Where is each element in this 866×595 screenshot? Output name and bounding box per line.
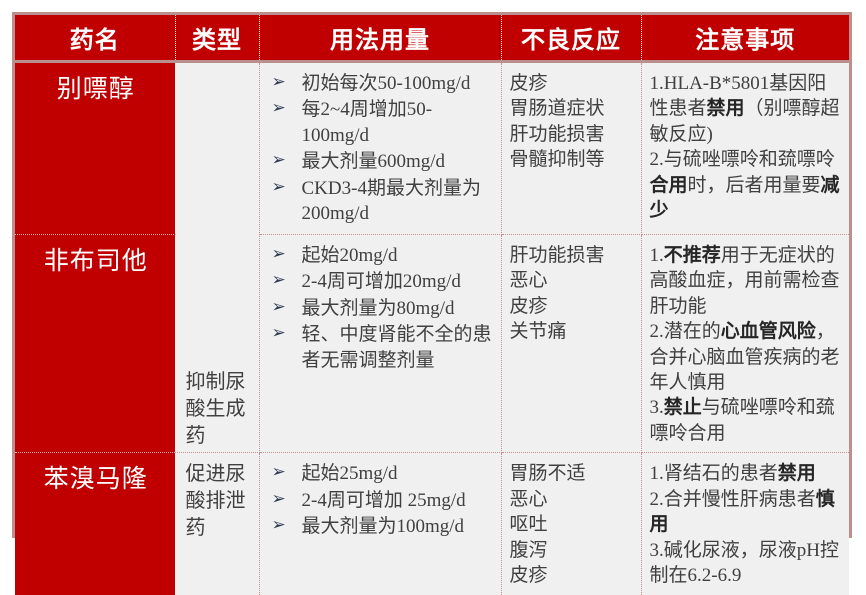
adverse-item: 肝功能损害	[510, 243, 635, 268]
dosage-item: ➢每2~4周增加50-100mg/d	[268, 97, 495, 148]
precaution-item: 1.肾结石的患者禁用	[650, 461, 844, 486]
cell-dosage: ➢起始25mg/d➢2-4周可增加 25mg/d➢最大剂量为100mg/d	[259, 453, 501, 595]
adverse-item: 皮疹	[510, 71, 635, 96]
arrow-bullet-icon: ➢	[272, 70, 286, 95]
dosage-item-text: 轻、中度肾能不全的患者无需调整剂量	[302, 324, 492, 370]
dosage-item: ➢2-4周可增加20mg/d	[268, 269, 495, 294]
cell-drug-name: 别嘌醇	[15, 62, 175, 235]
precaution-text: 3.	[650, 397, 664, 418]
cell-drug-type: 抑制尿酸生成药	[175, 62, 259, 453]
dosage-item: ➢起始25mg/d	[268, 461, 495, 486]
adverse-item: 骨髓抑制等	[510, 147, 635, 172]
dosage-item-text: 最大剂量600mg/d	[302, 151, 446, 172]
adverse-item: 腹泻	[510, 538, 635, 563]
precaution-text: 1.	[650, 245, 664, 266]
precaution-text: 2.潜在的	[650, 321, 721, 342]
column-header-drug-type: 类型	[175, 15, 259, 62]
precaution-item: 2.潜在的心血管风险，合并心脑血管疾病的老年人慎用	[650, 319, 844, 395]
adverse-list: 肝功能损害恶心皮疹关节痛	[510, 243, 635, 345]
column-header-drug-name: 药名	[15, 15, 175, 62]
precaution-text: 2.与硫唑嘌呤和巯嘌呤	[650, 149, 835, 170]
cell-precautions: 1.肾结石的患者禁用2.合并慢性肝病患者慎用3.碱化尿液，尿液pH控制在6.2-…	[641, 453, 849, 595]
drug-type-text: 抑制尿酸生成药	[186, 371, 246, 447]
adverse-item: 呕吐	[510, 512, 635, 537]
arrow-bullet-icon: ➢	[272, 148, 286, 173]
arrow-bullet-icon: ➢	[272, 513, 286, 538]
arrow-bullet-icon: ➢	[272, 321, 286, 346]
precaution-emphasis: 禁用	[707, 98, 745, 119]
dosage-item: ➢CKD3-4期最大剂量为200mg/d	[268, 176, 495, 227]
arrow-bullet-icon: ➢	[272, 242, 286, 267]
adverse-item: 关节痛	[510, 319, 635, 344]
drug-comparison-table: 药名 类型 用法用量 不良反应 注意事项 别嘌醇 抑制尿酸生成药 ➢初始每次50…	[15, 15, 849, 595]
adverse-item: 胃肠不适	[510, 461, 635, 486]
precaution-list: 1.不推荐用于无症状的高酸血症，用前需检查肝功能2.潜在的心血管风险，合并心脑血…	[650, 243, 844, 447]
cell-precautions: 1.不推荐用于无症状的高酸血症，用前需检查肝功能2.潜在的心血管风险，合并心脑血…	[641, 234, 849, 453]
cell-drug-name: 苯溴马隆	[15, 453, 175, 595]
cell-precautions: 1.HLA-B*5801基因阳性患者禁用（别嘌醇超敏反应)2.与硫唑嘌呤和巯嘌呤…	[641, 62, 849, 235]
dosage-item-text: 2-4周可增加20mg/d	[302, 271, 461, 292]
precaution-emphasis: 禁止	[664, 397, 702, 418]
table-row: 非布司他 ➢起始20mg/d➢2-4周可增加20mg/d➢最大剂量为80mg/d…	[15, 234, 849, 453]
adverse-list: 皮疹胃肠道症状肝功能损害骨髓抑制等	[510, 71, 635, 173]
arrow-bullet-icon: ➢	[272, 175, 286, 200]
drug-type-text: 促进尿酸排泄药	[186, 463, 246, 539]
precaution-emphasis: 禁用	[778, 463, 816, 484]
cell-drug-type: 促进尿酸排泄药	[175, 453, 259, 595]
dosage-item-text: 初始每次50-100mg/d	[302, 73, 471, 94]
adverse-item: 皮疹	[510, 563, 635, 588]
table-row: 别嘌醇 抑制尿酸生成药 ➢初始每次50-100mg/d➢每2~4周增加50-10…	[15, 62, 849, 235]
dosage-item-text: 起始20mg/d	[302, 245, 398, 266]
column-header-precautions: 注意事项	[641, 15, 849, 62]
arrow-bullet-icon: ➢	[272, 487, 286, 512]
precaution-list: 1.肾结石的患者禁用2.合并慢性肝病患者慎用3.碱化尿液，尿液pH控制在6.2-…	[650, 461, 844, 588]
table-header: 药名 类型 用法用量 不良反应 注意事项	[15, 15, 849, 62]
precaution-item: 3.禁止与硫唑嘌呤和巯嘌呤合用	[650, 395, 844, 446]
cell-adverse: 胃肠不适恶心呕吐腹泻皮疹	[501, 453, 641, 595]
drug-comparison-table-container: 药名 类型 用法用量 不良反应 注意事项 别嘌醇 抑制尿酸生成药 ➢初始每次50…	[12, 12, 852, 538]
dosage-item-text: 最大剂量为100mg/d	[302, 516, 465, 537]
cell-dosage: ➢起始20mg/d➢2-4周可增加20mg/d➢最大剂量为80mg/d➢轻、中度…	[259, 234, 501, 453]
arrow-bullet-icon: ➢	[272, 96, 286, 121]
dosage-item-text: CKD3-4期最大剂量为200mg/d	[302, 178, 481, 224]
precaution-emphasis: 合用	[650, 175, 688, 196]
dosage-item-text: 2-4周可增加 25mg/d	[302, 490, 466, 511]
precaution-item: 2.合并慢性肝病患者慎用	[650, 487, 844, 538]
adverse-item: 恶心	[510, 268, 635, 293]
precaution-emphasis: 不推荐	[664, 245, 721, 266]
dosage-item-text: 每2~4周增加50-100mg/d	[302, 99, 433, 145]
adverse-item: 恶心	[510, 487, 635, 512]
precaution-text: 2.合并慢性肝病患者	[650, 489, 816, 510]
adverse-item: 皮疹	[510, 294, 635, 319]
precaution-item: 2.与硫唑嘌呤和巯嘌呤合用时，后者用量要减少	[650, 147, 844, 223]
dosage-list: ➢初始每次50-100mg/d➢每2~4周增加50-100mg/d➢最大剂量60…	[268, 71, 495, 227]
precaution-list: 1.HLA-B*5801基因阳性患者禁用（别嘌醇超敏反应)2.与硫唑嘌呤和巯嘌呤…	[650, 71, 844, 224]
dosage-item: ➢最大剂量600mg/d	[268, 149, 495, 174]
precaution-text: 时，后者用量要	[688, 175, 821, 196]
dosage-item: ➢最大剂量为80mg/d	[268, 296, 495, 321]
precaution-item: 1.不推荐用于无症状的高酸血症，用前需检查肝功能	[650, 243, 844, 319]
dosage-list: ➢起始25mg/d➢2-4周可增加 25mg/d➢最大剂量为100mg/d	[268, 461, 495, 539]
dosage-item-text: 最大剂量为80mg/d	[302, 298, 455, 319]
precaution-emphasis: 心血管风险	[721, 321, 816, 342]
adverse-item: 肝功能损害	[510, 122, 635, 147]
column-header-adverse: 不良反应	[501, 15, 641, 62]
precaution-text: 1.肾结石的患者	[650, 463, 778, 484]
cell-adverse: 皮疹胃肠道症状肝功能损害骨髓抑制等	[501, 62, 641, 235]
cell-adverse: 肝功能损害恶心皮疹关节痛	[501, 234, 641, 453]
cell-dosage: ➢初始每次50-100mg/d➢每2~4周增加50-100mg/d➢最大剂量60…	[259, 62, 501, 235]
dosage-item: ➢初始每次50-100mg/d	[268, 71, 495, 96]
precaution-item: 3.碱化尿液，尿液pH控制在6.2-6.9	[650, 538, 844, 589]
table-header-row: 药名 类型 用法用量 不良反应 注意事项	[15, 15, 849, 62]
arrow-bullet-icon: ➢	[272, 295, 286, 320]
column-header-dosage: 用法用量	[259, 15, 501, 62]
dosage-item: ➢2-4周可增加 25mg/d	[268, 488, 495, 513]
arrow-bullet-icon: ➢	[272, 268, 286, 293]
precaution-item: 1.HLA-B*5801基因阳性患者禁用（别嘌醇超敏反应)	[650, 71, 844, 147]
arrow-bullet-icon: ➢	[272, 460, 286, 485]
adverse-item: 胃肠道症状	[510, 96, 635, 121]
cell-drug-name: 非布司他	[15, 234, 175, 453]
dosage-item-text: 起始25mg/d	[302, 463, 398, 484]
table-body: 别嘌醇 抑制尿酸生成药 ➢初始每次50-100mg/d➢每2~4周增加50-10…	[15, 62, 849, 595]
table-row: 苯溴马隆 促进尿酸排泄药 ➢起始25mg/d➢2-4周可增加 25mg/d➢最大…	[15, 453, 849, 595]
dosage-item: ➢起始20mg/d	[268, 243, 495, 268]
dosage-item: ➢最大剂量为100mg/d	[268, 514, 495, 539]
adverse-list: 胃肠不适恶心呕吐腹泻皮疹	[510, 461, 635, 588]
dosage-list: ➢起始20mg/d➢2-4周可增加20mg/d➢最大剂量为80mg/d➢轻、中度…	[268, 243, 495, 373]
dosage-item: ➢轻、中度肾能不全的患者无需调整剂量	[268, 322, 495, 373]
